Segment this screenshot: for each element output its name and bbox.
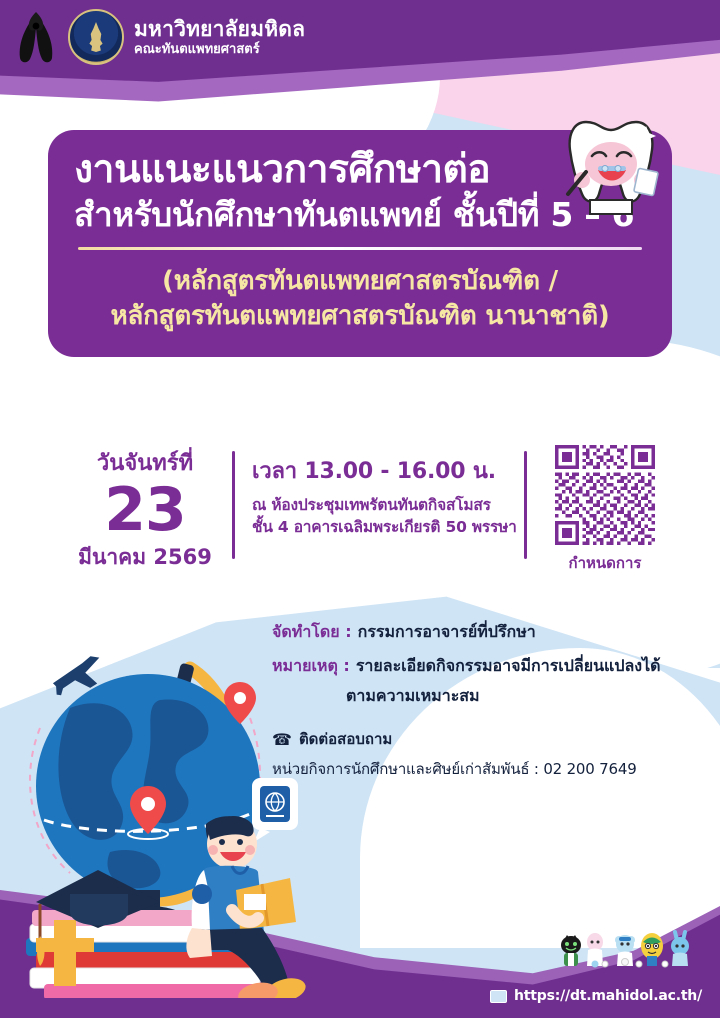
- divider-vertical-left: [232, 451, 235, 559]
- event-time-venue-block: เวลา 13.00 - 16.00 น. ณ ห้องประชุมเทพรัต…: [252, 453, 522, 538]
- website-icon: [490, 990, 507, 1003]
- event-date-block: วันจันทร์ที่ 23 มีนาคม 2569: [60, 445, 230, 574]
- contact-heading-row: ☎ ติดต่อสอบถาม: [272, 727, 692, 751]
- event-time: เวลา 13.00 - 16.00 น.: [252, 453, 522, 488]
- event-venue-line-1: ณ ห้องประชุมเทพรัตนทันตกิจสโมสร: [252, 494, 522, 516]
- contact-line: หน่วยกิจการนักศึกษาและศิษย์เก่าสัมพันธ์ …: [272, 757, 692, 781]
- note-label: หมายเหตุ :: [272, 654, 350, 679]
- note-value-continued: ตามความเหมาะสม: [346, 684, 692, 709]
- event-day-number: 23: [60, 482, 230, 539]
- details-block: จัดทำโดย : กรรมการอาจารย์ที่ปรึกษา หมายเ…: [272, 620, 692, 781]
- event-info-row: วันจันทร์ที่ 23 มีนาคม 2569 เวลา 13.00 -…: [0, 445, 720, 595]
- poster-root: มหาวิทยาลัยมหิดล คณะทันตแพทยศาสตร์ งานแน…: [0, 0, 720, 1018]
- qr-code-icon[interactable]: [555, 445, 655, 545]
- organizer-row: จัดทำโดย : กรรมการอาจารย์ที่ปรึกษา: [272, 620, 692, 645]
- title-divider: [78, 247, 642, 250]
- university-names: มหาวิทยาลัยมหิดล คณะทันตแพทยศาสตร์: [134, 18, 305, 57]
- faculty-name: คณะทันตแพทยศาสตร์: [134, 43, 305, 57]
- website-url[interactable]: https://dt.mahidol.ac.th/: [514, 988, 702, 1004]
- contact-heading: ติดต่อสอบถาม: [299, 727, 392, 751]
- event-venue-line-2: ชั้น 4 อาคารเฉลิมพระเกียรติ 50 พรรษา: [252, 516, 522, 538]
- website-row[interactable]: https://dt.mahidol.ac.th/: [490, 988, 702, 1004]
- faculty-mascot-characters-icon: [557, 928, 702, 970]
- header: มหาวิทยาลัยมหิดล คณะทันตแพทยศาสตร์: [14, 8, 305, 66]
- tooth-mascot-icon: [556, 108, 666, 218]
- organizer-value: กรรมการอาจารย์ที่ปรึกษา: [358, 621, 536, 643]
- contact-block: ☎ ติดต่อสอบถาม หน่วยกิจการนักศึกษาและศิษ…: [272, 727, 692, 781]
- note-row: หมายเหตุ : รายละเอียดกิจกรรมอาจมีการเปลี…: [272, 654, 692, 679]
- mahidol-university-seal-icon: [68, 9, 124, 65]
- telephone-icon: ☎: [272, 730, 292, 749]
- title-subtitle-line-2: หลักสูตรทันตแพทยศาสตรบัณฑิต นานาชาติ): [74, 299, 646, 335]
- university-name: มหาวิทยาลัยมหิดล: [134, 18, 305, 40]
- divider-vertical-right: [524, 451, 527, 559]
- event-month-year: มีนาคม 2569: [60, 541, 230, 574]
- black-mourning-ribbon-icon: [14, 8, 58, 66]
- organizer-label: จัดทำโดย :: [272, 620, 352, 645]
- passport-icon: [252, 778, 298, 842]
- note-value: รายละเอียดกิจกรรมอาจมีการเปลี่ยนแปลงได้: [356, 655, 661, 677]
- qr-caption: กำหนดการ: [545, 551, 665, 575]
- title-subtitle-line-1: (หลักสูตรทันตแพทยศาสตรบัณฑิต /: [74, 264, 646, 300]
- qr-block[interactable]: กำหนดการ: [545, 445, 665, 575]
